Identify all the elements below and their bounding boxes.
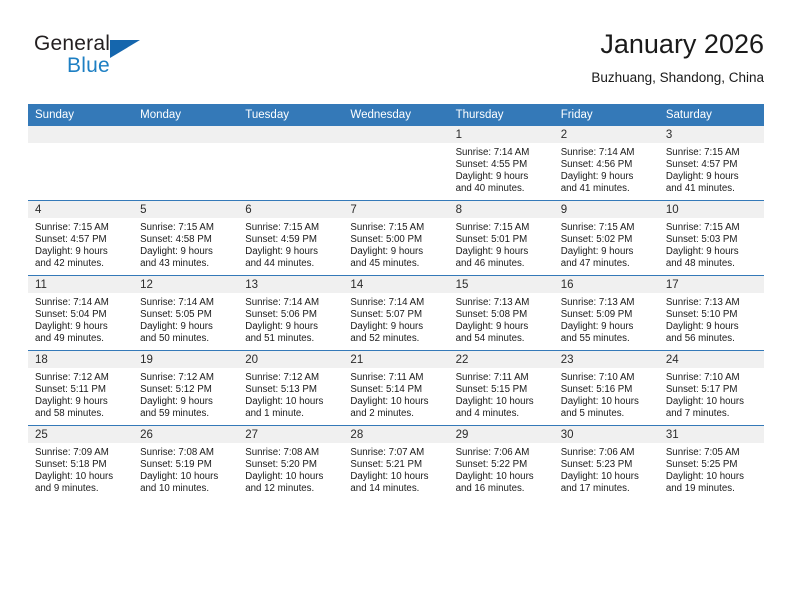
day-number: 29 xyxy=(449,426,554,443)
day-cell[interactable]: 27 Sunrise: 7:08 AM Sunset: 5:20 PM Dayl… xyxy=(238,426,343,501)
sunset-text: Sunset: 5:21 PM xyxy=(350,459,443,471)
day-details: Sunrise: 7:15 AM Sunset: 4:59 PM Dayligh… xyxy=(238,218,343,270)
sunset-text: Sunset: 5:23 PM xyxy=(561,459,654,471)
sunset-text: Sunset: 5:19 PM xyxy=(140,459,233,471)
day-number: 5 xyxy=(133,201,238,218)
day-number: 25 xyxy=(28,426,133,443)
day-number: 4 xyxy=(28,201,133,218)
daylight-text-line1: Daylight: 10 hours xyxy=(245,396,338,408)
sunset-text: Sunset: 5:03 PM xyxy=(666,234,759,246)
sunset-text: Sunset: 4:59 PM xyxy=(245,234,338,246)
sunrise-text: Sunrise: 7:12 AM xyxy=(140,372,233,384)
day-cell[interactable]: 28 Sunrise: 7:07 AM Sunset: 5:21 PM Dayl… xyxy=(343,426,448,501)
sunset-text: Sunset: 5:08 PM xyxy=(456,309,549,321)
daylight-text-line2: and 9 minutes. xyxy=(35,483,128,495)
day-cell[interactable]: 20 Sunrise: 7:12 AM Sunset: 5:13 PM Dayl… xyxy=(238,351,343,426)
day-details: Sunrise: 7:15 AM Sunset: 5:00 PM Dayligh… xyxy=(343,218,448,270)
daylight-text-line1: Daylight: 10 hours xyxy=(140,471,233,483)
calendar-week-row: 18 Sunrise: 7:12 AM Sunset: 5:11 PM Dayl… xyxy=(28,351,764,426)
sunset-text: Sunset: 5:06 PM xyxy=(245,309,338,321)
day-number: 17 xyxy=(659,276,764,293)
day-cell[interactable]: 25 Sunrise: 7:09 AM Sunset: 5:18 PM Dayl… xyxy=(28,426,133,501)
weekday-header-sunday: Sunday xyxy=(28,104,133,126)
day-number: 3 xyxy=(659,126,764,143)
daylight-text-line1: Daylight: 9 hours xyxy=(561,246,654,258)
day-number: 31 xyxy=(659,426,764,443)
daylight-text-line2: and 58 minutes. xyxy=(35,408,128,420)
daylight-text-line1: Daylight: 10 hours xyxy=(561,396,654,408)
daylight-text-line2: and 47 minutes. xyxy=(561,258,654,270)
weekday-header-tuesday: Tuesday xyxy=(238,104,343,126)
daylight-text-line2: and 54 minutes. xyxy=(456,333,549,345)
day-number: 23 xyxy=(554,351,659,368)
sunrise-text: Sunrise: 7:14 AM xyxy=(245,297,338,309)
sunset-text: Sunset: 5:18 PM xyxy=(35,459,128,471)
daylight-text-line1: Daylight: 9 hours xyxy=(35,321,128,333)
daylight-text-line2: and 4 minutes. xyxy=(456,408,549,420)
day-details: Sunrise: 7:14 AM Sunset: 5:05 PM Dayligh… xyxy=(133,293,238,345)
sunrise-text: Sunrise: 7:10 AM xyxy=(666,372,759,384)
sunrise-text: Sunrise: 7:14 AM xyxy=(35,297,128,309)
daylight-text-line1: Daylight: 9 hours xyxy=(456,246,549,258)
daylight-text-line2: and 46 minutes. xyxy=(456,258,549,270)
day-number: 19 xyxy=(133,351,238,368)
day-number: 22 xyxy=(449,351,554,368)
sunrise-text: Sunrise: 7:15 AM xyxy=(245,222,338,234)
day-cell[interactable]: 6 Sunrise: 7:15 AM Sunset: 4:59 PM Dayli… xyxy=(238,201,343,276)
day-cell[interactable]: 22 Sunrise: 7:11 AM Sunset: 5:15 PM Dayl… xyxy=(449,351,554,426)
day-number: 16 xyxy=(554,276,659,293)
calendar-week-row: 11 Sunrise: 7:14 AM Sunset: 5:04 PM Dayl… xyxy=(28,276,764,351)
day-cell[interactable]: 15 Sunrise: 7:13 AM Sunset: 5:08 PM Dayl… xyxy=(449,276,554,351)
daylight-text-line2: and 52 minutes. xyxy=(350,333,443,345)
day-number: 13 xyxy=(238,276,343,293)
daylight-text-line1: Daylight: 9 hours xyxy=(350,321,443,333)
day-cell[interactable]: 26 Sunrise: 7:08 AM Sunset: 5:19 PM Dayl… xyxy=(133,426,238,501)
day-cell[interactable] xyxy=(28,126,133,201)
day-details: Sunrise: 7:14 AM Sunset: 5:07 PM Dayligh… xyxy=(343,293,448,345)
calendar-page: General Blue January 2026 Buzhuang, Shan… xyxy=(0,0,792,612)
daylight-text-line1: Daylight: 9 hours xyxy=(140,396,233,408)
sunrise-text: Sunrise: 7:13 AM xyxy=(456,297,549,309)
day-cell[interactable]: 13 Sunrise: 7:14 AM Sunset: 5:06 PM Dayl… xyxy=(238,276,343,351)
day-number: 11 xyxy=(28,276,133,293)
sunset-text: Sunset: 5:01 PM xyxy=(456,234,549,246)
day-number: 26 xyxy=(133,426,238,443)
day-details: Sunrise: 7:12 AM Sunset: 5:11 PM Dayligh… xyxy=(28,368,133,420)
sunset-text: Sunset: 5:14 PM xyxy=(350,384,443,396)
day-number: 10 xyxy=(659,201,764,218)
day-cell[interactable]: 31 Sunrise: 7:05 AM Sunset: 5:25 PM Dayl… xyxy=(659,426,764,501)
brand-name-general: General xyxy=(34,32,110,56)
day-cell[interactable]: 24 Sunrise: 7:10 AM Sunset: 5:17 PM Dayl… xyxy=(659,351,764,426)
day-cell[interactable]: 23 Sunrise: 7:10 AM Sunset: 5:16 PM Dayl… xyxy=(554,351,659,426)
daylight-text-line2: and 43 minutes. xyxy=(140,258,233,270)
day-cell[interactable]: 29 Sunrise: 7:06 AM Sunset: 5:22 PM Dayl… xyxy=(449,426,554,501)
day-number: 28 xyxy=(343,426,448,443)
sunset-text: Sunset: 5:00 PM xyxy=(350,234,443,246)
calendar-week-row: 1 Sunrise: 7:14 AM Sunset: 4:55 PM Dayli… xyxy=(28,126,764,201)
day-details: Sunrise: 7:11 AM Sunset: 5:14 PM Dayligh… xyxy=(343,368,448,420)
daylight-text-line1: Daylight: 9 hours xyxy=(456,171,549,183)
daylight-text-line1: Daylight: 10 hours xyxy=(666,396,759,408)
sunset-text: Sunset: 4:55 PM xyxy=(456,159,549,171)
sunrise-text: Sunrise: 7:14 AM xyxy=(456,147,549,159)
daylight-text-line1: Daylight: 10 hours xyxy=(245,471,338,483)
sunrise-text: Sunrise: 7:08 AM xyxy=(245,447,338,459)
sunrise-text: Sunrise: 7:15 AM xyxy=(35,222,128,234)
weekday-header-saturday: Saturday xyxy=(659,104,764,126)
daylight-text-line2: and 45 minutes. xyxy=(350,258,443,270)
daylight-text-line1: Daylight: 9 hours xyxy=(666,321,759,333)
sunrise-text: Sunrise: 7:11 AM xyxy=(456,372,549,384)
daylight-text-line2: and 19 minutes. xyxy=(666,483,759,495)
calendar-week-row: 4 Sunrise: 7:15 AM Sunset: 4:57 PM Dayli… xyxy=(28,201,764,276)
day-number: 12 xyxy=(133,276,238,293)
daylight-text-line2: and 40 minutes. xyxy=(456,183,549,195)
sunset-text: Sunset: 5:09 PM xyxy=(561,309,654,321)
daylight-text-line1: Daylight: 9 hours xyxy=(666,171,759,183)
sunset-text: Sunset: 4:58 PM xyxy=(140,234,233,246)
day-cell[interactable]: 10 Sunrise: 7:15 AM Sunset: 5:03 PM Dayl… xyxy=(659,201,764,276)
daylight-text-line2: and 41 minutes. xyxy=(666,183,759,195)
sunrise-text: Sunrise: 7:15 AM xyxy=(350,222,443,234)
day-number: 1 xyxy=(449,126,554,143)
day-cell[interactable]: 2 Sunrise: 7:14 AM Sunset: 4:56 PM Dayli… xyxy=(554,126,659,201)
daylight-text-line2: and 12 minutes. xyxy=(245,483,338,495)
day-cell[interactable] xyxy=(343,126,448,201)
day-details: Sunrise: 7:15 AM Sunset: 4:57 PM Dayligh… xyxy=(659,143,764,195)
sunset-text: Sunset: 5:10 PM xyxy=(666,309,759,321)
sunrise-text: Sunrise: 7:15 AM xyxy=(666,222,759,234)
sunset-text: Sunset: 5:17 PM xyxy=(666,384,759,396)
sunrise-text: Sunrise: 7:10 AM xyxy=(561,372,654,384)
day-cell[interactable]: 21 Sunrise: 7:11 AM Sunset: 5:14 PM Dayl… xyxy=(343,351,448,426)
day-cell[interactable]: 1 Sunrise: 7:14 AM Sunset: 4:55 PM Dayli… xyxy=(449,126,554,201)
calendar-header-row: Sunday Monday Tuesday Wednesday Thursday… xyxy=(28,104,764,126)
daylight-text-line2: and 55 minutes. xyxy=(561,333,654,345)
day-number: 2 xyxy=(554,126,659,143)
sunset-text: Sunset: 5:25 PM xyxy=(666,459,759,471)
day-number: 8 xyxy=(449,201,554,218)
daylight-text-line2: and 56 minutes. xyxy=(666,333,759,345)
page-subtitle: Buzhuang, Shandong, China xyxy=(591,68,764,88)
day-details: Sunrise: 7:12 AM Sunset: 5:13 PM Dayligh… xyxy=(238,368,343,420)
sunrise-text: Sunrise: 7:12 AM xyxy=(35,372,128,384)
sunset-text: Sunset: 5:12 PM xyxy=(140,384,233,396)
sunrise-text: Sunrise: 7:14 AM xyxy=(140,297,233,309)
day-number: 6 xyxy=(238,201,343,218)
daylight-text-line2: and 17 minutes. xyxy=(561,483,654,495)
day-cell[interactable]: 30 Sunrise: 7:06 AM Sunset: 5:23 PM Dayl… xyxy=(554,426,659,501)
day-cell[interactable]: 19 Sunrise: 7:12 AM Sunset: 5:12 PM Dayl… xyxy=(133,351,238,426)
calendar-table: Sunday Monday Tuesday Wednesday Thursday… xyxy=(28,104,764,500)
day-number: 15 xyxy=(449,276,554,293)
day-details: Sunrise: 7:07 AM Sunset: 5:21 PM Dayligh… xyxy=(343,443,448,495)
day-details: Sunrise: 7:09 AM Sunset: 5:18 PM Dayligh… xyxy=(28,443,133,495)
day-details: Sunrise: 7:05 AM Sunset: 5:25 PM Dayligh… xyxy=(659,443,764,495)
day-cell[interactable]: 16 Sunrise: 7:13 AM Sunset: 5:09 PM Dayl… xyxy=(554,276,659,351)
weekday-header-friday: Friday xyxy=(554,104,659,126)
sunset-text: Sunset: 5:05 PM xyxy=(140,309,233,321)
day-details: Sunrise: 7:13 AM Sunset: 5:08 PM Dayligh… xyxy=(449,293,554,345)
daylight-text-line1: Daylight: 9 hours xyxy=(35,246,128,258)
page-header: General Blue January 2026 Buzhuang, Shan… xyxy=(28,28,764,96)
day-cell[interactable] xyxy=(133,126,238,201)
sunrise-text: Sunrise: 7:15 AM xyxy=(140,222,233,234)
day-cell[interactable]: 11 Sunrise: 7:14 AM Sunset: 5:04 PM Dayl… xyxy=(28,276,133,351)
daylight-text-line1: Daylight: 10 hours xyxy=(561,471,654,483)
sunrise-text: Sunrise: 7:11 AM xyxy=(350,372,443,384)
sunset-text: Sunset: 4:57 PM xyxy=(35,234,128,246)
daylight-text-line2: and 1 minute. xyxy=(245,408,338,420)
day-details: Sunrise: 7:14 AM Sunset: 5:04 PM Dayligh… xyxy=(28,293,133,345)
daylight-text-line1: Daylight: 9 hours xyxy=(350,246,443,258)
sunrise-text: Sunrise: 7:06 AM xyxy=(456,447,549,459)
day-details: Sunrise: 7:15 AM Sunset: 4:57 PM Dayligh… xyxy=(28,218,133,270)
day-details: Sunrise: 7:06 AM Sunset: 5:22 PM Dayligh… xyxy=(449,443,554,495)
day-number: 20 xyxy=(238,351,343,368)
day-details: Sunrise: 7:14 AM Sunset: 5:06 PM Dayligh… xyxy=(238,293,343,345)
day-number xyxy=(343,126,448,143)
sunrise-text: Sunrise: 7:14 AM xyxy=(561,147,654,159)
day-cell[interactable]: 12 Sunrise: 7:14 AM Sunset: 5:05 PM Dayl… xyxy=(133,276,238,351)
daylight-text-line2: and 49 minutes. xyxy=(35,333,128,345)
daylight-text-line1: Daylight: 9 hours xyxy=(140,246,233,258)
sunrise-text: Sunrise: 7:05 AM xyxy=(666,447,759,459)
day-details: Sunrise: 7:14 AM Sunset: 4:55 PM Dayligh… xyxy=(449,143,554,195)
sunset-text: Sunset: 5:11 PM xyxy=(35,384,128,396)
daylight-text-line2: and 14 minutes. xyxy=(350,483,443,495)
sunset-text: Sunset: 5:22 PM xyxy=(456,459,549,471)
day-details: Sunrise: 7:13 AM Sunset: 5:10 PM Dayligh… xyxy=(659,293,764,345)
day-cell[interactable]: 8 Sunrise: 7:15 AM Sunset: 5:01 PM Dayli… xyxy=(449,201,554,276)
calendar-body: 1 Sunrise: 7:14 AM Sunset: 4:55 PM Dayli… xyxy=(28,126,764,500)
day-details: Sunrise: 7:10 AM Sunset: 5:17 PM Dayligh… xyxy=(659,368,764,420)
day-number: 27 xyxy=(238,426,343,443)
day-cell[interactable] xyxy=(238,126,343,201)
sunrise-text: Sunrise: 7:15 AM xyxy=(456,222,549,234)
brand-logo[interactable]: General Blue xyxy=(34,32,214,88)
sunrise-text: Sunrise: 7:09 AM xyxy=(35,447,128,459)
daylight-text-line2: and 51 minutes. xyxy=(245,333,338,345)
sunset-text: Sunset: 5:07 PM xyxy=(350,309,443,321)
sunrise-text: Sunrise: 7:14 AM xyxy=(350,297,443,309)
daylight-text-line2: and 16 minutes. xyxy=(456,483,549,495)
sunset-text: Sunset: 5:02 PM xyxy=(561,234,654,246)
weekday-header-monday: Monday xyxy=(133,104,238,126)
day-details: Sunrise: 7:11 AM Sunset: 5:15 PM Dayligh… xyxy=(449,368,554,420)
day-cell[interactable]: 5 Sunrise: 7:15 AM Sunset: 4:58 PM Dayli… xyxy=(133,201,238,276)
day-number: 14 xyxy=(343,276,448,293)
daylight-text-line2: and 10 minutes. xyxy=(140,483,233,495)
daylight-text-line2: and 41 minutes. xyxy=(561,183,654,195)
daylight-text-line2: and 5 minutes. xyxy=(561,408,654,420)
day-cell[interactable]: 17 Sunrise: 7:13 AM Sunset: 5:10 PM Dayl… xyxy=(659,276,764,351)
daylight-text-line1: Daylight: 10 hours xyxy=(35,471,128,483)
day-cell[interactable]: 9 Sunrise: 7:15 AM Sunset: 5:02 PM Dayli… xyxy=(554,201,659,276)
sunset-text: Sunset: 5:16 PM xyxy=(561,384,654,396)
daylight-text-line1: Daylight: 10 hours xyxy=(456,471,549,483)
daylight-text-line1: Daylight: 10 hours xyxy=(350,471,443,483)
daylight-text-line1: Daylight: 9 hours xyxy=(245,321,338,333)
day-number: 7 xyxy=(343,201,448,218)
day-cell[interactable]: 4 Sunrise: 7:15 AM Sunset: 4:57 PM Dayli… xyxy=(28,201,133,276)
day-number xyxy=(238,126,343,143)
daylight-text-line1: Daylight: 9 hours xyxy=(666,246,759,258)
title-block: January 2026 Buzhuang, Shandong, China xyxy=(591,28,764,88)
day-details: Sunrise: 7:15 AM Sunset: 5:02 PM Dayligh… xyxy=(554,218,659,270)
sunset-text: Sunset: 4:57 PM xyxy=(666,159,759,171)
sunset-text: Sunset: 5:15 PM xyxy=(456,384,549,396)
day-number: 30 xyxy=(554,426,659,443)
daylight-text-line1: Daylight: 10 hours xyxy=(350,396,443,408)
day-details: Sunrise: 7:15 AM Sunset: 5:03 PM Dayligh… xyxy=(659,218,764,270)
sunset-text: Sunset: 5:04 PM xyxy=(35,309,128,321)
day-details: Sunrise: 7:10 AM Sunset: 5:16 PM Dayligh… xyxy=(554,368,659,420)
sunrise-text: Sunrise: 7:12 AM xyxy=(245,372,338,384)
sunrise-text: Sunrise: 7:13 AM xyxy=(666,297,759,309)
day-cell[interactable]: 7 Sunrise: 7:15 AM Sunset: 5:00 PM Dayli… xyxy=(343,201,448,276)
daylight-text-line1: Daylight: 10 hours xyxy=(456,396,549,408)
daylight-text-line1: Daylight: 9 hours xyxy=(456,321,549,333)
day-number xyxy=(28,126,133,143)
daylight-text-line2: and 48 minutes. xyxy=(666,258,759,270)
daylight-text-line2: and 44 minutes. xyxy=(245,258,338,270)
daylight-text-line2: and 7 minutes. xyxy=(666,408,759,420)
day-details: Sunrise: 7:15 AM Sunset: 5:01 PM Dayligh… xyxy=(449,218,554,270)
triangle-logo-icon xyxy=(110,40,140,58)
sunrise-text: Sunrise: 7:08 AM xyxy=(140,447,233,459)
daylight-text-line1: Daylight: 9 hours xyxy=(245,246,338,258)
day-cell[interactable]: 3 Sunrise: 7:15 AM Sunset: 4:57 PM Dayli… xyxy=(659,126,764,201)
day-number: 24 xyxy=(659,351,764,368)
daylight-text-line1: Daylight: 9 hours xyxy=(561,171,654,183)
day-number: 21 xyxy=(343,351,448,368)
brand-name-blue: Blue xyxy=(67,54,110,78)
day-details: Sunrise: 7:15 AM Sunset: 4:58 PM Dayligh… xyxy=(133,218,238,270)
sunset-text: Sunset: 5:20 PM xyxy=(245,459,338,471)
day-number: 18 xyxy=(28,351,133,368)
weekday-header-thursday: Thursday xyxy=(449,104,554,126)
daylight-text-line1: Daylight: 9 hours xyxy=(35,396,128,408)
sunrise-text: Sunrise: 7:15 AM xyxy=(666,147,759,159)
day-details: Sunrise: 7:13 AM Sunset: 5:09 PM Dayligh… xyxy=(554,293,659,345)
sunrise-text: Sunrise: 7:06 AM xyxy=(561,447,654,459)
daylight-text-line1: Daylight: 9 hours xyxy=(561,321,654,333)
sunset-text: Sunset: 4:56 PM xyxy=(561,159,654,171)
daylight-text-line1: Daylight: 9 hours xyxy=(140,321,233,333)
weekday-header-wednesday: Wednesday xyxy=(343,104,448,126)
day-details: Sunrise: 7:08 AM Sunset: 5:20 PM Dayligh… xyxy=(238,443,343,495)
sunrise-text: Sunrise: 7:07 AM xyxy=(350,447,443,459)
calendar-week-row: 25 Sunrise: 7:09 AM Sunset: 5:18 PM Dayl… xyxy=(28,426,764,501)
day-number xyxy=(133,126,238,143)
day-details: Sunrise: 7:08 AM Sunset: 5:19 PM Dayligh… xyxy=(133,443,238,495)
day-details: Sunrise: 7:12 AM Sunset: 5:12 PM Dayligh… xyxy=(133,368,238,420)
day-cell[interactable]: 14 Sunrise: 7:14 AM Sunset: 5:07 PM Dayl… xyxy=(343,276,448,351)
daylight-text-line2: and 2 minutes. xyxy=(350,408,443,420)
day-details: Sunrise: 7:14 AM Sunset: 4:56 PM Dayligh… xyxy=(554,143,659,195)
sunrise-text: Sunrise: 7:15 AM xyxy=(561,222,654,234)
sunrise-text: Sunrise: 7:13 AM xyxy=(561,297,654,309)
daylight-text-line1: Daylight: 10 hours xyxy=(666,471,759,483)
daylight-text-line2: and 42 minutes. xyxy=(35,258,128,270)
daylight-text-line2: and 50 minutes. xyxy=(140,333,233,345)
sunset-text: Sunset: 5:13 PM xyxy=(245,384,338,396)
day-number: 9 xyxy=(554,201,659,218)
day-cell[interactable]: 18 Sunrise: 7:12 AM Sunset: 5:11 PM Dayl… xyxy=(28,351,133,426)
day-details: Sunrise: 7:06 AM Sunset: 5:23 PM Dayligh… xyxy=(554,443,659,495)
page-title: January 2026 xyxy=(591,28,764,60)
daylight-text-line2: and 59 minutes. xyxy=(140,408,233,420)
